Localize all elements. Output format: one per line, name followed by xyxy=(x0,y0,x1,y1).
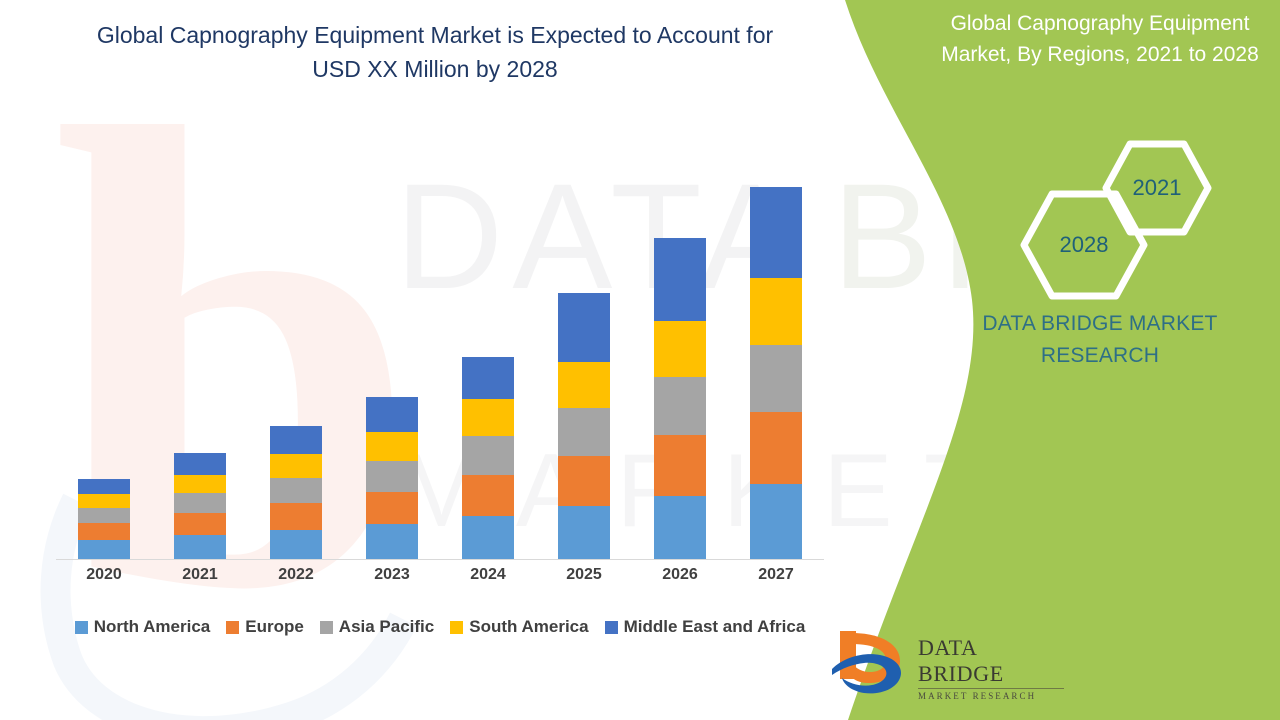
bar-slot xyxy=(728,120,824,559)
bar-segment[interactable] xyxy=(174,513,226,535)
legend-item[interactable]: North America xyxy=(75,617,211,637)
side-panel: Global Capnography Equipment Market, By … xyxy=(820,0,1280,720)
x-axis-tick-label: 2021 xyxy=(152,566,248,584)
bar-stack[interactable] xyxy=(654,238,706,559)
bar-segment[interactable] xyxy=(174,475,226,493)
bar-segment[interactable] xyxy=(558,408,610,456)
bar-stack[interactable] xyxy=(750,187,802,559)
bar-segment[interactable] xyxy=(750,484,802,559)
legend-swatch-icon xyxy=(75,621,88,634)
bar-segment[interactable] xyxy=(174,493,226,513)
bar-segment[interactable] xyxy=(462,399,514,436)
legend-swatch-icon xyxy=(226,621,239,634)
bar-segment[interactable] xyxy=(750,412,802,484)
bar-segment[interactable] xyxy=(78,523,130,540)
bar-segment[interactable] xyxy=(750,278,802,345)
logo-wordmark: DATA BRIDGE MARKET RESEARCH xyxy=(918,635,1068,701)
bar-stack[interactable] xyxy=(558,293,610,559)
bar-segment[interactable] xyxy=(750,187,802,278)
side-panel-content: Global Capnography Equipment Market, By … xyxy=(820,0,1280,720)
x-axis-tick-label: 2023 xyxy=(344,566,440,584)
x-axis-tick-label: 2020 xyxy=(56,566,152,584)
bar-group xyxy=(56,120,824,559)
bar-segment[interactable] xyxy=(558,362,610,408)
bar-segment[interactable] xyxy=(558,506,610,559)
bar-slot xyxy=(248,120,344,559)
bar-segment[interactable] xyxy=(270,530,322,559)
legend-label: North America xyxy=(94,617,211,637)
bar-slot xyxy=(344,120,440,559)
bar-segment[interactable] xyxy=(366,461,418,492)
bar-segment[interactable] xyxy=(654,377,706,435)
x-axis-tick-label: 2026 xyxy=(632,566,728,584)
legend-item[interactable]: Middle East and Africa xyxy=(605,617,806,637)
logo-divider xyxy=(918,688,1064,689)
bar-segment[interactable] xyxy=(366,432,418,461)
bar-slot xyxy=(56,120,152,559)
bar-segment[interactable] xyxy=(78,494,130,508)
x-axis-line xyxy=(56,559,824,560)
bar-segment[interactable] xyxy=(270,478,322,503)
bar-segment[interactable] xyxy=(558,456,610,506)
bar-stack[interactable] xyxy=(366,397,418,559)
x-axis-labels: 20202021202220232024202520262027 xyxy=(56,566,824,584)
bar-segment[interactable] xyxy=(462,516,514,559)
logo-name-main: DATA BRIDGE xyxy=(918,635,1068,687)
bar-slot xyxy=(440,120,536,559)
chart-legend: North AmericaEuropeAsia PacificSouth Ame… xyxy=(40,617,840,637)
bar-segment[interactable] xyxy=(558,293,610,363)
bar-slot xyxy=(632,120,728,559)
bar-slot xyxy=(152,120,248,559)
panel-title: Global Capnography Equipment Market, By … xyxy=(930,8,1270,70)
legend-swatch-icon xyxy=(450,621,463,634)
legend-swatch-icon xyxy=(605,621,618,634)
x-axis-tick-label: 2025 xyxy=(536,566,632,584)
hexagon-group: 2028 2021 xyxy=(930,140,1260,285)
bar-segment[interactable] xyxy=(78,508,130,523)
company-logo: DATA BRIDGE MARKET RESEARCH xyxy=(830,625,1070,705)
x-axis-tick-label: 2024 xyxy=(440,566,536,584)
chart-plot-area xyxy=(56,120,824,560)
bar-segment[interactable] xyxy=(462,475,514,516)
legend-item[interactable]: Asia Pacific xyxy=(320,617,434,637)
legend-item[interactable]: South America xyxy=(450,617,588,637)
bar-segment[interactable] xyxy=(462,357,514,400)
bar-segment[interactable] xyxy=(366,492,418,524)
bar-stack[interactable] xyxy=(270,426,322,559)
bar-stack[interactable] xyxy=(462,357,514,560)
bar-segment[interactable] xyxy=(174,453,226,475)
bar-segment[interactable] xyxy=(366,397,418,432)
legend-label: Middle East and Africa xyxy=(624,617,806,637)
bar-segment[interactable] xyxy=(654,238,706,321)
panel-brand-text: DATA BRIDGE MARKET RESEARCH xyxy=(930,308,1270,372)
bar-segment[interactable] xyxy=(462,436,514,475)
legend-label: Asia Pacific xyxy=(339,617,434,637)
legend-swatch-icon xyxy=(320,621,333,634)
x-axis-tick-label: 2027 xyxy=(728,566,824,584)
bar-segment[interactable] xyxy=(78,479,130,494)
bar-segment[interactable] xyxy=(366,524,418,559)
bar-segment[interactable] xyxy=(750,345,802,413)
bar-segment[interactable] xyxy=(654,435,706,496)
hexagon-label-2021: 2021 xyxy=(1133,175,1182,201)
logo-name-sub: MARKET RESEARCH xyxy=(918,691,1068,701)
bar-slot xyxy=(536,120,632,559)
bar-stack[interactable] xyxy=(174,453,226,559)
slide-root: b DATA BRIDGE MARKET RESEARCH Global Cap… xyxy=(0,0,1280,720)
hexagon-badge-2021: 2021 xyxy=(1102,140,1212,236)
bar-segment[interactable] xyxy=(654,321,706,378)
bar-segment[interactable] xyxy=(270,503,322,530)
bar-segment[interactable] xyxy=(174,535,226,559)
bar-segment[interactable] xyxy=(654,496,706,559)
chart-title: Global Capnography Equipment Market is E… xyxy=(70,18,800,86)
bar-segment[interactable] xyxy=(78,540,130,559)
legend-label: Europe xyxy=(245,617,304,637)
bar-segment[interactable] xyxy=(270,426,322,454)
legend-label: South America xyxy=(469,617,588,637)
bar-segment[interactable] xyxy=(270,454,322,478)
x-axis-tick-label: 2022 xyxy=(248,566,344,584)
legend-item[interactable]: Europe xyxy=(226,617,304,637)
data-bridge-logo-icon xyxy=(830,625,916,699)
bar-stack[interactable] xyxy=(78,479,130,559)
